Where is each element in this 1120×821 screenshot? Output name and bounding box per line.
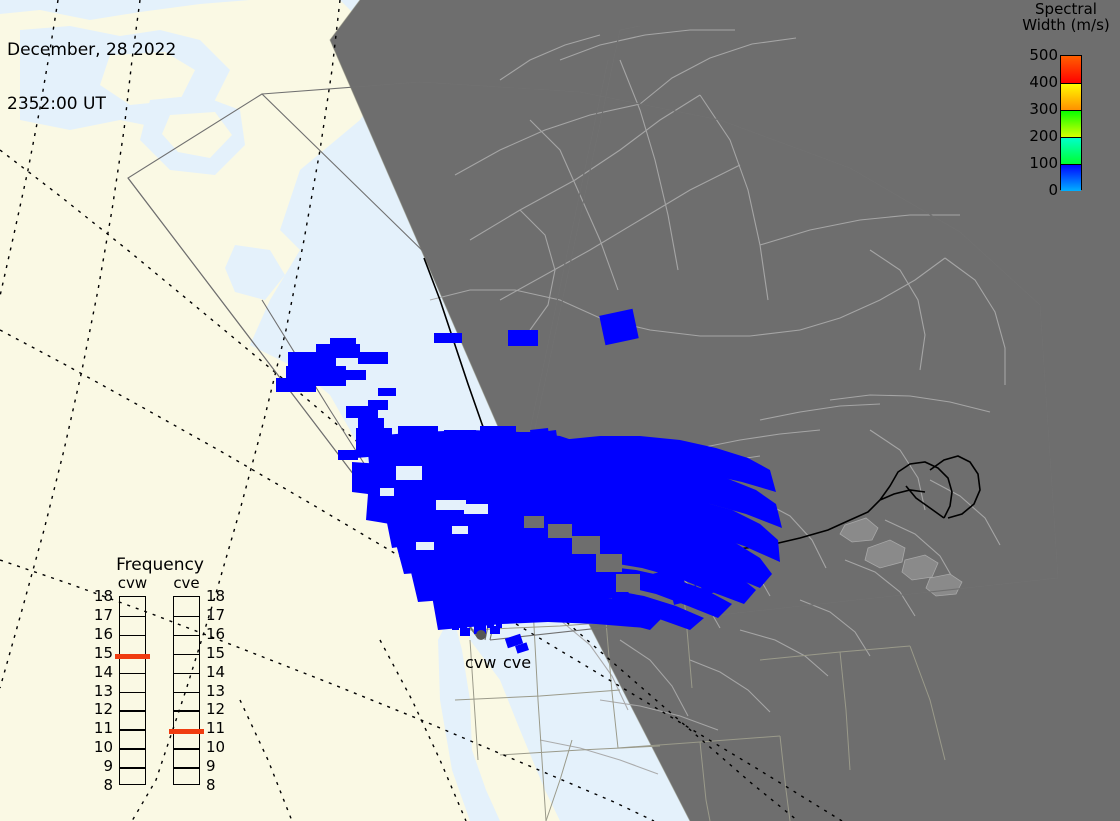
frequency-title: Frequency <box>85 556 235 574</box>
frequency-scale-label: 18 <box>91 589 113 604</box>
colorbar-segment <box>1061 83 1081 110</box>
colorbar-tick-label: 200 <box>1029 129 1058 144</box>
colorbar-tick-label: 500 <box>1029 48 1058 63</box>
timestamp: December, 28 2022 2352:00 UT <box>7 5 176 149</box>
frequency-column-label-cvw: cvw <box>113 575 153 591</box>
frequency-scale-label: 13 <box>206 684 228 699</box>
frequency-column-label-cve: cve <box>167 575 207 591</box>
colorbar-separator <box>1061 83 1081 84</box>
colorbar-title-line2: Width (m/s) <box>1012 17 1120 33</box>
frequency-tick <box>174 692 199 694</box>
frequency-scale-label: 8 <box>206 778 228 793</box>
site-label-cve: cve <box>503 655 531 671</box>
frequency-scale-label: 17 <box>206 608 228 623</box>
frequency-scale-label: 15 <box>91 646 113 661</box>
colorbar-separator <box>1061 110 1081 111</box>
colorbar-segment <box>1061 110 1081 137</box>
colorbar-separator <box>1061 164 1081 165</box>
frequency-tick <box>120 616 145 618</box>
colorbar-segment <box>1061 137 1081 164</box>
frequency-tick <box>174 635 199 637</box>
frequency-tick <box>174 616 199 618</box>
frequency-tick <box>174 673 199 675</box>
colorbar-tick-label: 300 <box>1029 102 1058 117</box>
radar-map-screenshot: December, 28 2022 2352:00 UT Spectral Wi… <box>0 0 1120 821</box>
colorbar-tick-label: 400 <box>1029 75 1058 90</box>
frequency-panel: Frequency cvw18171615141312111098cve1817… <box>85 556 235 806</box>
frequency-scale-label: 15 <box>206 646 228 661</box>
frequency-scale-label: 9 <box>206 759 228 774</box>
frequency-tick <box>120 767 145 769</box>
frequency-marker-cvw <box>115 654 150 659</box>
frequency-bar-cvw[interactable] <box>119 596 146 785</box>
colorbar-title: Spectral Width (m/s) <box>1012 1 1120 33</box>
frequency-scale-label: 14 <box>91 665 113 680</box>
frequency-tick <box>120 635 145 637</box>
frequency-tick <box>120 673 145 675</box>
frequency-scale-label: 10 <box>206 740 228 755</box>
frequency-scale-label: 12 <box>206 702 228 717</box>
colorbar-separator <box>1061 137 1081 138</box>
frequency-scale-label: 16 <box>91 627 113 642</box>
frequency-tick <box>120 729 145 731</box>
frequency-scale-label: 8 <box>91 778 113 793</box>
timestamp-date: December, 28 2022 <box>7 41 176 59</box>
frequency-tick <box>174 767 199 769</box>
frequency-scale-label: 9 <box>91 759 113 774</box>
colorbar-tick-label: 100 <box>1029 156 1058 171</box>
frequency-scale-label: 14 <box>206 665 228 680</box>
colorbar-segment <box>1061 56 1081 83</box>
colorbar-gradient <box>1060 55 1082 190</box>
colorbar-segment <box>1061 164 1081 191</box>
radar-site-marker <box>476 630 486 640</box>
frequency-scale-label: 10 <box>91 740 113 755</box>
frequency-scale-label: 17 <box>91 608 113 623</box>
frequency-tick <box>174 654 199 656</box>
site-label-cvw: cvw <box>465 655 496 671</box>
frequency-marker-cve <box>169 729 204 734</box>
frequency-tick <box>174 710 199 712</box>
frequency-bar-cve[interactable] <box>173 596 200 785</box>
frequency-scale-label: 18 <box>206 589 228 604</box>
frequency-scale-label: 12 <box>91 702 113 717</box>
timestamp-time: 2352:00 UT <box>7 95 176 113</box>
frequency-tick <box>174 748 199 750</box>
frequency-tick <box>120 692 145 694</box>
colorbar-panel: Spectral Width (m/s) 5004003002001000 <box>1012 0 1120 200</box>
frequency-tick <box>120 710 145 712</box>
colorbar-title-line1: Spectral <box>1012 1 1120 17</box>
frequency-scale-label: 11 <box>206 721 228 736</box>
frequency-scale-label: 16 <box>206 627 228 642</box>
colorbar-tick-label: 0 <box>1048 183 1058 198</box>
frequency-tick <box>120 748 145 750</box>
frequency-scale-label: 11 <box>91 721 113 736</box>
frequency-scale-label: 13 <box>91 684 113 699</box>
